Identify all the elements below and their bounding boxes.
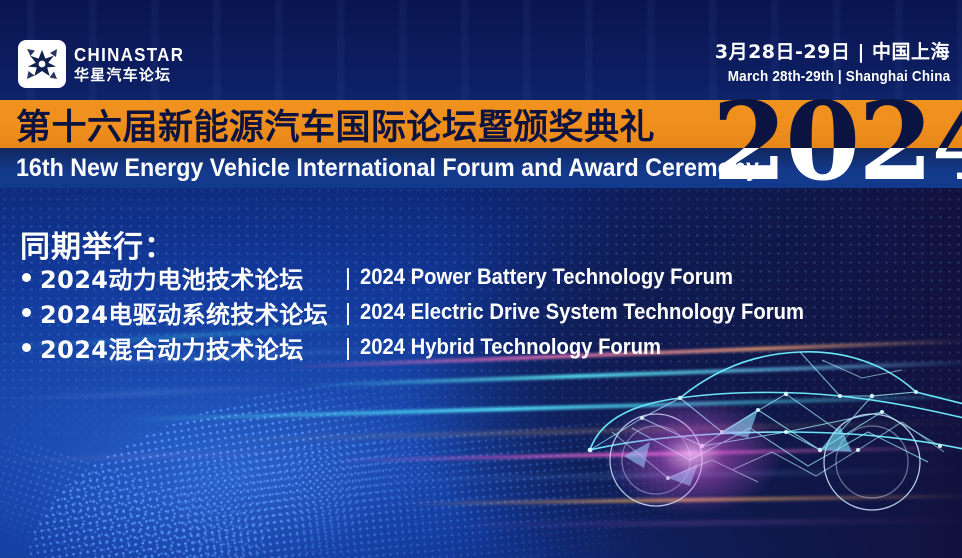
bullet-icon: [22, 273, 31, 282]
car-headlight-glow: [602, 395, 782, 515]
forum-divider: |: [338, 264, 358, 291]
forum-name-en: 2024 Power Battery Technology Forum: [360, 264, 733, 290]
event-banner: CHINASTAR 华星汽车论坛 3月28日-29日 | 中国上海 March …: [0, 0, 962, 558]
logo-wordmark: CHINASTAR 华星汽车论坛: [74, 46, 191, 83]
chinastar-logo[interactable]: CHINASTAR 华星汽车论坛: [18, 40, 191, 88]
event-date-cn: 3月28日-29日 | 中国上海: [703, 42, 950, 64]
forum-name-cn: 2024动力电池技术论坛: [40, 260, 338, 295]
star-emblem-icon: [18, 40, 66, 88]
forum-divider: |: [338, 334, 358, 361]
event-date-en: March 28th-29th | Shanghai China: [727, 68, 950, 85]
forum-name-cn: 2024电驱动系统技术论坛: [40, 295, 338, 330]
forum-name-cn: 2024混合动力技术论坛: [40, 330, 338, 365]
list-item: 2024混合动力技术论坛 | 2024 Hybrid Technology Fo…: [22, 332, 843, 362]
bullet-icon: [22, 343, 31, 352]
forum-divider: |: [338, 299, 358, 326]
forum-name-en: 2024 Electric Drive System Technology Fo…: [360, 299, 804, 325]
event-title-en: 16th New Energy Vehicle International Fo…: [16, 148, 759, 188]
list-item: 2024动力电池技术论坛 | 2024 Power Battery Techno…: [22, 262, 843, 292]
bullet-icon: [22, 308, 31, 317]
event-title-cn: 第十六届新能源汽车国际论坛暨颁奖典礼: [16, 100, 655, 148]
event-date-location: 3月28日-29日 | 中国上海 March 28th-29th | Shang…: [703, 42, 950, 85]
logo-name-cn: 华星汽车论坛: [74, 68, 191, 83]
list-item: 2024电驱动系统技术论坛 | 2024 Electric Drive Syst…: [22, 297, 843, 327]
concurrent-forums-list: 2024动力电池技术论坛 | 2024 Power Battery Techno…: [22, 262, 843, 367]
forum-name-en: 2024 Hybrid Technology Forum: [360, 334, 661, 360]
logo-name-en: CHINASTAR: [74, 46, 184, 64]
